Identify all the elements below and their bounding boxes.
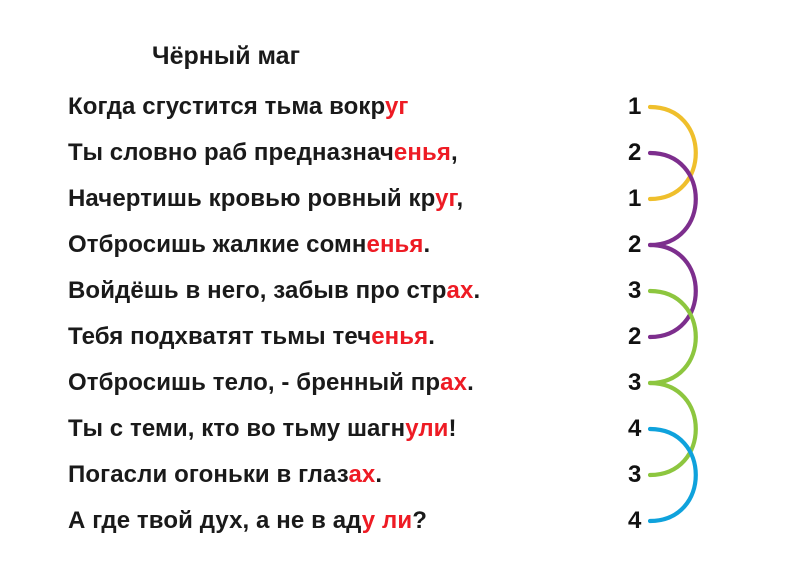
poem-line-stem: Ты словно раб предназнач — [68, 139, 394, 166]
poem-line-rhyme-ending: ах — [440, 369, 467, 396]
poem-line: Тебя подхватят тьмы теченья. — [68, 314, 608, 360]
poem-line-stem: А где твой дух, а не в ад — [68, 507, 362, 534]
poem-line-rhyme-ending: енья — [367, 231, 424, 258]
poem-line: А где твой дух, а не в аду ли? — [68, 498, 608, 544]
poem-line-punctuation: . — [428, 323, 435, 350]
poem-line-rhyme-ending: ах — [447, 277, 474, 304]
page-title: Чёрный маг — [152, 42, 300, 71]
poem-lines-list: Когда сгустится тьма вокругТы словно раб… — [68, 84, 608, 544]
poem-line-punctuation: . — [467, 369, 474, 396]
poem-line: Войдёшь в него, забыв про страх. — [68, 268, 608, 314]
poem-line: Отбросишь тело, - бренный прах. — [68, 360, 608, 406]
poem-line-punctuation: , — [451, 139, 458, 166]
poem-line-stem: Ты с теми, кто во тьму шагн — [68, 415, 405, 442]
poem-line: Ты словно раб предназначенья, — [68, 130, 608, 176]
poem-line-stem: Начертишь кровью ровный кр — [68, 185, 435, 212]
poem-line-stem: Отбросишь жалкие сомн — [68, 231, 367, 258]
poem-line-rhyme-ending: енья — [371, 323, 428, 350]
poem-line-rhyme-ending: у ли — [362, 507, 412, 534]
poem-line-rhyme-ending: ах — [348, 461, 375, 488]
poem-line-punctuation: , — [457, 185, 464, 212]
poem-line-rhyme-ending: уг — [435, 185, 456, 212]
poem-line-punctuation: ? — [412, 507, 427, 534]
rhyme-arc-diagram — [648, 84, 710, 554]
poem-line: Когда сгустится тьма вокруг — [68, 84, 608, 130]
poem-line: Начертишь кровью ровный круг, — [68, 176, 608, 222]
poem-line: Погасли огоньки в глазах. — [68, 452, 608, 498]
poem-line-rhyme-ending: енья — [394, 139, 451, 166]
poem-line-rhyme-ending: ули — [405, 415, 448, 442]
poem-line-stem: Войдёшь в него, забыв про стр — [68, 277, 447, 304]
poem-line-punctuation: ! — [449, 415, 457, 442]
poem-line: Отбросишь жалкие сомненья. — [68, 222, 608, 268]
poem-line-punctuation: . — [424, 231, 431, 258]
poem-line-stem: Погасли огоньки в глаз — [68, 461, 348, 488]
poem-line-punctuation: . — [375, 461, 382, 488]
poem-line-stem: Тебя подхватят тьмы теч — [68, 323, 371, 350]
poem-rhyme-scheme-figure: Чёрный маг Когда сгустится тьма вокругТы… — [0, 0, 800, 587]
poem-line-stem: Когда сгустится тьма вокр — [68, 93, 385, 120]
poem-line-rhyme-ending: уг — [385, 93, 409, 120]
poem-line-punctuation: . — [473, 277, 480, 304]
poem-line: Ты с теми, кто во тьму шагнули! — [68, 406, 608, 452]
poem-line-stem: Отбросишь тело, - бренный пр — [68, 369, 440, 396]
